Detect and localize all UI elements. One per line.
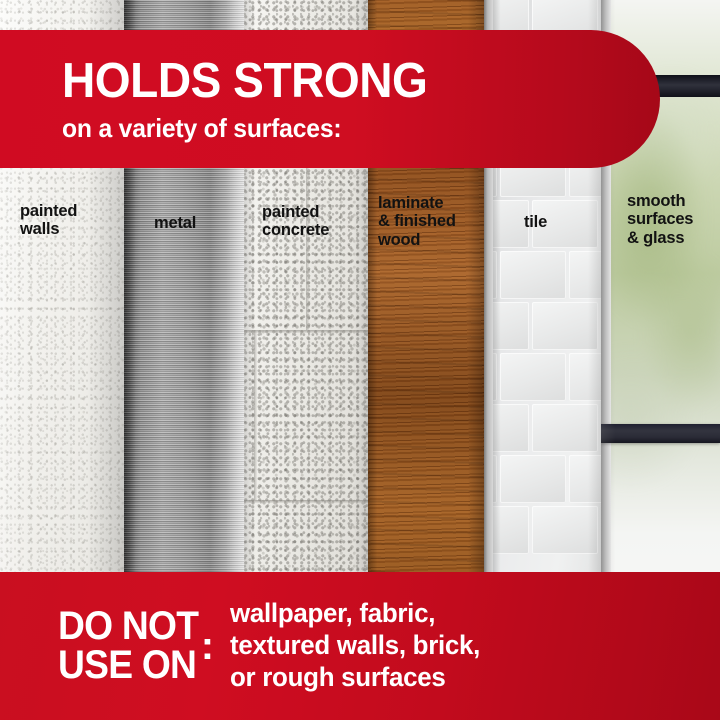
warning-colon: : <box>201 626 224 666</box>
tile-unit <box>493 455 497 503</box>
mortar-joint-vertical <box>254 330 257 500</box>
tile-unit <box>493 506 529 554</box>
tile-unit <box>500 353 566 401</box>
tile-unit <box>500 251 566 299</box>
surface-label-glass: smooth surfaces & glass <box>627 192 693 247</box>
tile-unit <box>569 455 601 503</box>
warning-banner: DO NOT USE ON : wallpaper, fabric, textu… <box>0 572 720 720</box>
tile-unit <box>532 506 598 554</box>
tile-unit <box>493 404 529 452</box>
mortar-joint-horizontal <box>244 330 368 333</box>
surface-label-wood: laminate & finished wood <box>378 194 456 249</box>
tile-unit <box>493 353 497 401</box>
warning-heading: DO NOT USE ON <box>58 607 198 685</box>
tile-unit <box>569 251 601 299</box>
headline-banner: HOLDS STRONG on a variety of surfaces: <box>0 30 660 168</box>
mortar-joint-horizontal <box>244 500 368 503</box>
tile-unit <box>493 251 497 299</box>
tile-unit <box>500 455 566 503</box>
tile-unit <box>569 353 601 401</box>
tile-unit <box>493 302 529 350</box>
headline-subtitle: on a variety of surfaces: <box>62 115 630 141</box>
tile-unit <box>532 404 598 452</box>
warning-list: wallpaper, fabric, textured walls, brick… <box>230 598 480 694</box>
headline-title: HOLDS STRONG <box>62 57 624 106</box>
warning-heading-group: DO NOT USE ON : <box>58 607 224 685</box>
tile-unit <box>532 302 598 350</box>
surface-label-painted-concrete: painted concrete <box>262 203 329 240</box>
surface-label-tile: tile <box>524 213 547 231</box>
surface-label-metal: metal <box>154 214 196 232</box>
window-frame-bar-top <box>655 75 720 97</box>
poster-root: HOLDS STRONG on a variety of surfaces: p… <box>0 0 720 720</box>
window-frame-bar <box>601 424 720 443</box>
surface-label-painted-walls: painted walls <box>20 202 77 239</box>
